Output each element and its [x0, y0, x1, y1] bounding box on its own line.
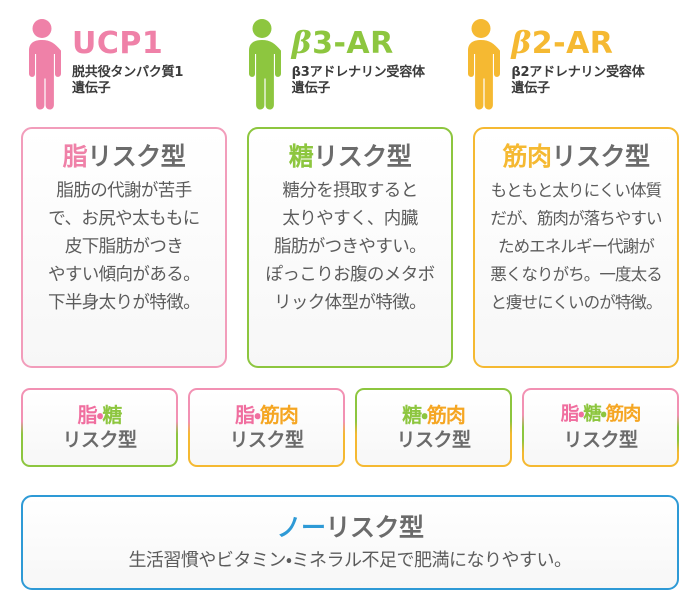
person-icon — [21, 18, 63, 110]
risk-card-fat: 脂リスク型 脂肪の代謝が苦手 で、お尻や太ももに 皮下脂肪がつき やすい傾向があ… — [21, 127, 227, 368]
combo-part-1: 脂 — [78, 403, 97, 427]
gene-code: β2-AR — [511, 26, 613, 61]
gene-name: 脱共役タンパク質1 遺伝子 — [72, 65, 183, 97]
combination-row: 脂・糖 リスク型 脂・筋肉 リスク型 糖・筋肉 リスク型 脂・糖・筋肉 リスク型 — [21, 388, 679, 467]
risk-card-title-rest: リスク型 — [552, 142, 650, 171]
gene-header-ucp1: UCP1 脱共役タンパク質1 遺伝子 — [21, 14, 240, 120]
risk-card-title: 糖リスク型 — [289, 142, 412, 172]
risk-card-body: もともと太りにくい体質 だが、筋肉が落ちやすい ためエネルギー代謝が 悪くなりが… — [490, 177, 662, 317]
gene-code-main: 2-AR — [532, 26, 614, 61]
combo-part-2: 糖 — [102, 403, 121, 427]
risk-card-title-rest: リスク型 — [87, 142, 185, 171]
infographic-root: UCP1 脱共役タンパク質1 遺伝子 β3-AR β3アドレナリン受容体 遺伝子 — [0, 0, 700, 605]
risk-card-title-highlight: 筋肉 — [502, 142, 551, 171]
combo-title: 脂・糖 — [78, 403, 122, 427]
combo-part-1: 脂 — [235, 403, 254, 427]
risk-card-title: 脂リスク型 — [63, 142, 186, 172]
risk-card-muscle: 筋肉リスク型 もともと太りにくい体質 だが、筋肉が落ちやすい ためエネルギー代謝… — [473, 127, 679, 368]
gene-header-b3ar: β3-AR β3アドレナリン受容体 遺伝子 — [241, 14, 460, 120]
combo-subtitle: リスク型 — [563, 428, 637, 452]
combo-part-2: 糖 — [583, 404, 600, 425]
risk-card-title-highlight: 糖 — [289, 142, 314, 171]
combo-part-2: 筋肉 — [260, 403, 298, 427]
combo-part-1: 糖 — [402, 403, 421, 427]
combo-title: 糖・筋肉 — [402, 403, 465, 427]
combo-inner: 脂・糖・筋肉 リスク型 — [524, 390, 677, 465]
combo-subtitle: リスク型 — [62, 428, 136, 452]
no-risk-subtitle: 生活習慣やビタミン・ミネラル不足で肥満になりやすい。 — [128, 549, 571, 573]
combo-part-2: 筋肉 — [427, 403, 465, 427]
combo-inner: 脂・筋肉 リスク型 — [190, 390, 343, 465]
risk-card-sugar: 糖リスク型 糖分を摂取すると 太りやすく、内臓 脂肪がつきやすい。 ぽっこりお腹… — [247, 127, 453, 368]
risk-card-body: 脂肪の代謝が苦手 で、お尻や太ももに 皮下脂肪がつき やすい傾向がある。 下半身… — [48, 177, 200, 317]
combo-subtitle: リスク型 — [396, 428, 470, 452]
gene-header-text: β3-AR β3アドレナリン受容体 遺伝子 — [292, 14, 425, 97]
risk-card-title-rest: リスク型 — [313, 142, 411, 171]
person-icon — [241, 18, 283, 110]
combo-box-fat-muscle: 脂・筋肉 リスク型 — [188, 388, 345, 467]
risk-card-title-highlight: 脂 — [63, 142, 88, 171]
gene-header-b2ar: β2-AR β2アドレナリン受容体 遺伝子 — [460, 14, 679, 120]
combo-title: 脂・筋肉 — [235, 403, 298, 427]
combo-title: 脂・糖・筋肉 — [561, 403, 640, 427]
risk-type-cards: 脂リスク型 脂肪の代謝が苦手 で、お尻や太ももに 皮下脂肪がつき やすい傾向があ… — [21, 127, 679, 368]
combo-part-3: 筋肉 — [606, 404, 641, 425]
combo-box-sugar-muscle: 糖・筋肉 リスク型 — [355, 388, 512, 467]
combo-box-fat-sugar-muscle: 脂・糖・筋肉 リスク型 — [522, 388, 679, 467]
combo-inner: 糖・筋肉 リスク型 — [357, 390, 510, 465]
risk-card-title: 筋肉リスク型 — [502, 142, 649, 172]
no-risk-title: ノーリスク型 — [276, 513, 423, 543]
gene-code-main: UCP1 — [72, 26, 163, 61]
gene-header-text: UCP1 脱共役タンパク質1 遺伝子 — [72, 14, 183, 97]
gene-code-prefix: β — [292, 26, 312, 61]
gene-code: β3-AR — [292, 26, 394, 61]
combo-inner: 脂・糖 リスク型 — [23, 390, 176, 465]
no-risk-title-rest: リスク型 — [326, 513, 424, 542]
combo-part-1: 脂 — [561, 404, 578, 425]
gene-name: β2アドレナリン受容体 遺伝子 — [511, 65, 644, 97]
gene-code: UCP1 — [72, 26, 163, 61]
gene-name: β3アドレナリン受容体 遺伝子 — [292, 65, 425, 97]
gene-header-row: UCP1 脱共役タンパク質1 遺伝子 β3-AR β3アドレナリン受容体 遺伝子 — [21, 14, 679, 120]
gene-code-prefix: β — [511, 26, 531, 61]
gene-header-text: β2-AR β2アドレナリン受容体 遺伝子 — [511, 14, 644, 97]
gene-code-main: 3-AR — [312, 26, 394, 61]
combo-subtitle: リスク型 — [229, 428, 303, 452]
no-risk-title-highlight: ノー — [276, 513, 325, 542]
person-icon — [460, 18, 502, 110]
no-risk-box: ノーリスク型 生活習慣やビタミン・ミネラル不足で肥満になりやすい。 — [21, 495, 679, 590]
combo-box-fat-sugar: 脂・糖 リスク型 — [21, 388, 178, 467]
risk-card-body: 糖分を摂取すると 太りやすく、内臓 脂肪がつきやすい。 ぽっこりお腹のメタボ リ… — [266, 177, 435, 317]
